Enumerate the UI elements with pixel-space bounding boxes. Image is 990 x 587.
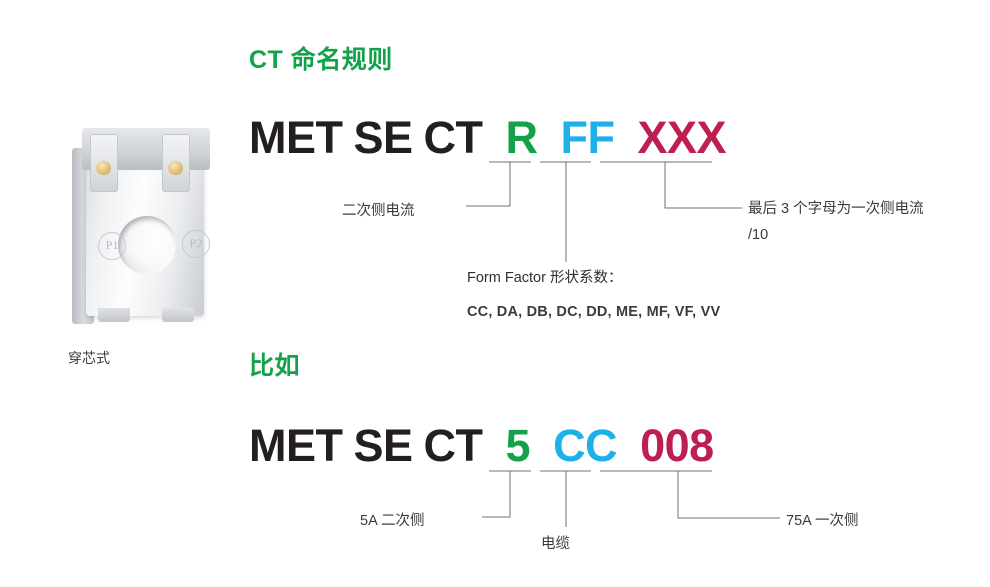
ct-marking-p2: P2 (182, 230, 210, 258)
code1-primary-code: XXX (638, 112, 727, 164)
code1-secondary-code: R (506, 112, 538, 164)
annotation-example-form-factor: 电缆 (541, 531, 570, 557)
ct-screw-left (96, 161, 111, 175)
code2-primary-code: 008 (640, 420, 714, 472)
leader-path-example-primary (678, 471, 780, 518)
ct-foot-right (162, 308, 194, 322)
part-number-pattern: MET SE CT R FF XXX (249, 112, 726, 164)
code2-secondary-code: 5 (506, 420, 531, 472)
ct-product-photo: P1 P2 (62, 112, 232, 334)
code2-prefix-se: SE (354, 420, 413, 472)
code2-prefix-ct: CT (424, 420, 483, 472)
code1-prefix-se: SE (354, 112, 413, 164)
product-caption: 穿芯式 (68, 348, 110, 368)
annotation-primary-current: 最后 3 个字母为一次侧电流 /10 (748, 196, 938, 248)
code1-prefix-ct: CT (424, 112, 483, 164)
annotation-form-factor-label: Form Factor 形状系数： (467, 265, 622, 291)
code1-formfactor-code: FF (561, 112, 615, 164)
annotation-form-factor-values: CC, DA, DB, DC, DD, ME, MF, VF, VV (467, 299, 720, 325)
ct-terminal-right (162, 134, 190, 192)
annotation-secondary-current: 二次侧电流 (342, 198, 415, 224)
annotation-example-secondary: 5A 二次侧 (360, 508, 424, 534)
leader-path-primary (665, 162, 742, 208)
code2-prefix-met: MET (249, 420, 343, 472)
ct-core-aperture (118, 216, 176, 274)
code1-prefix-met: MET (249, 112, 343, 164)
ct-foot-left (98, 308, 130, 322)
annotation-example-primary: 75A 一次侧 (786, 508, 859, 534)
ct-terminal-left (90, 134, 118, 192)
part-number-example: MET SE CT 5 CC 008 (249, 420, 714, 472)
leader-path-example-secondary (482, 471, 510, 517)
example-heading: 比如 (249, 346, 300, 382)
page-title: CT 命名规则 (249, 40, 393, 76)
ct-screw-right (168, 161, 183, 175)
leader-path-secondary (466, 162, 510, 206)
code2-formfactor-code: CC (553, 420, 617, 472)
slide-canvas: CT 命名规则 比如 P1 P2 穿芯式 MET SE CT R FF XXX … (0, 0, 990, 587)
ct-marking-p1: P1 (98, 232, 126, 260)
